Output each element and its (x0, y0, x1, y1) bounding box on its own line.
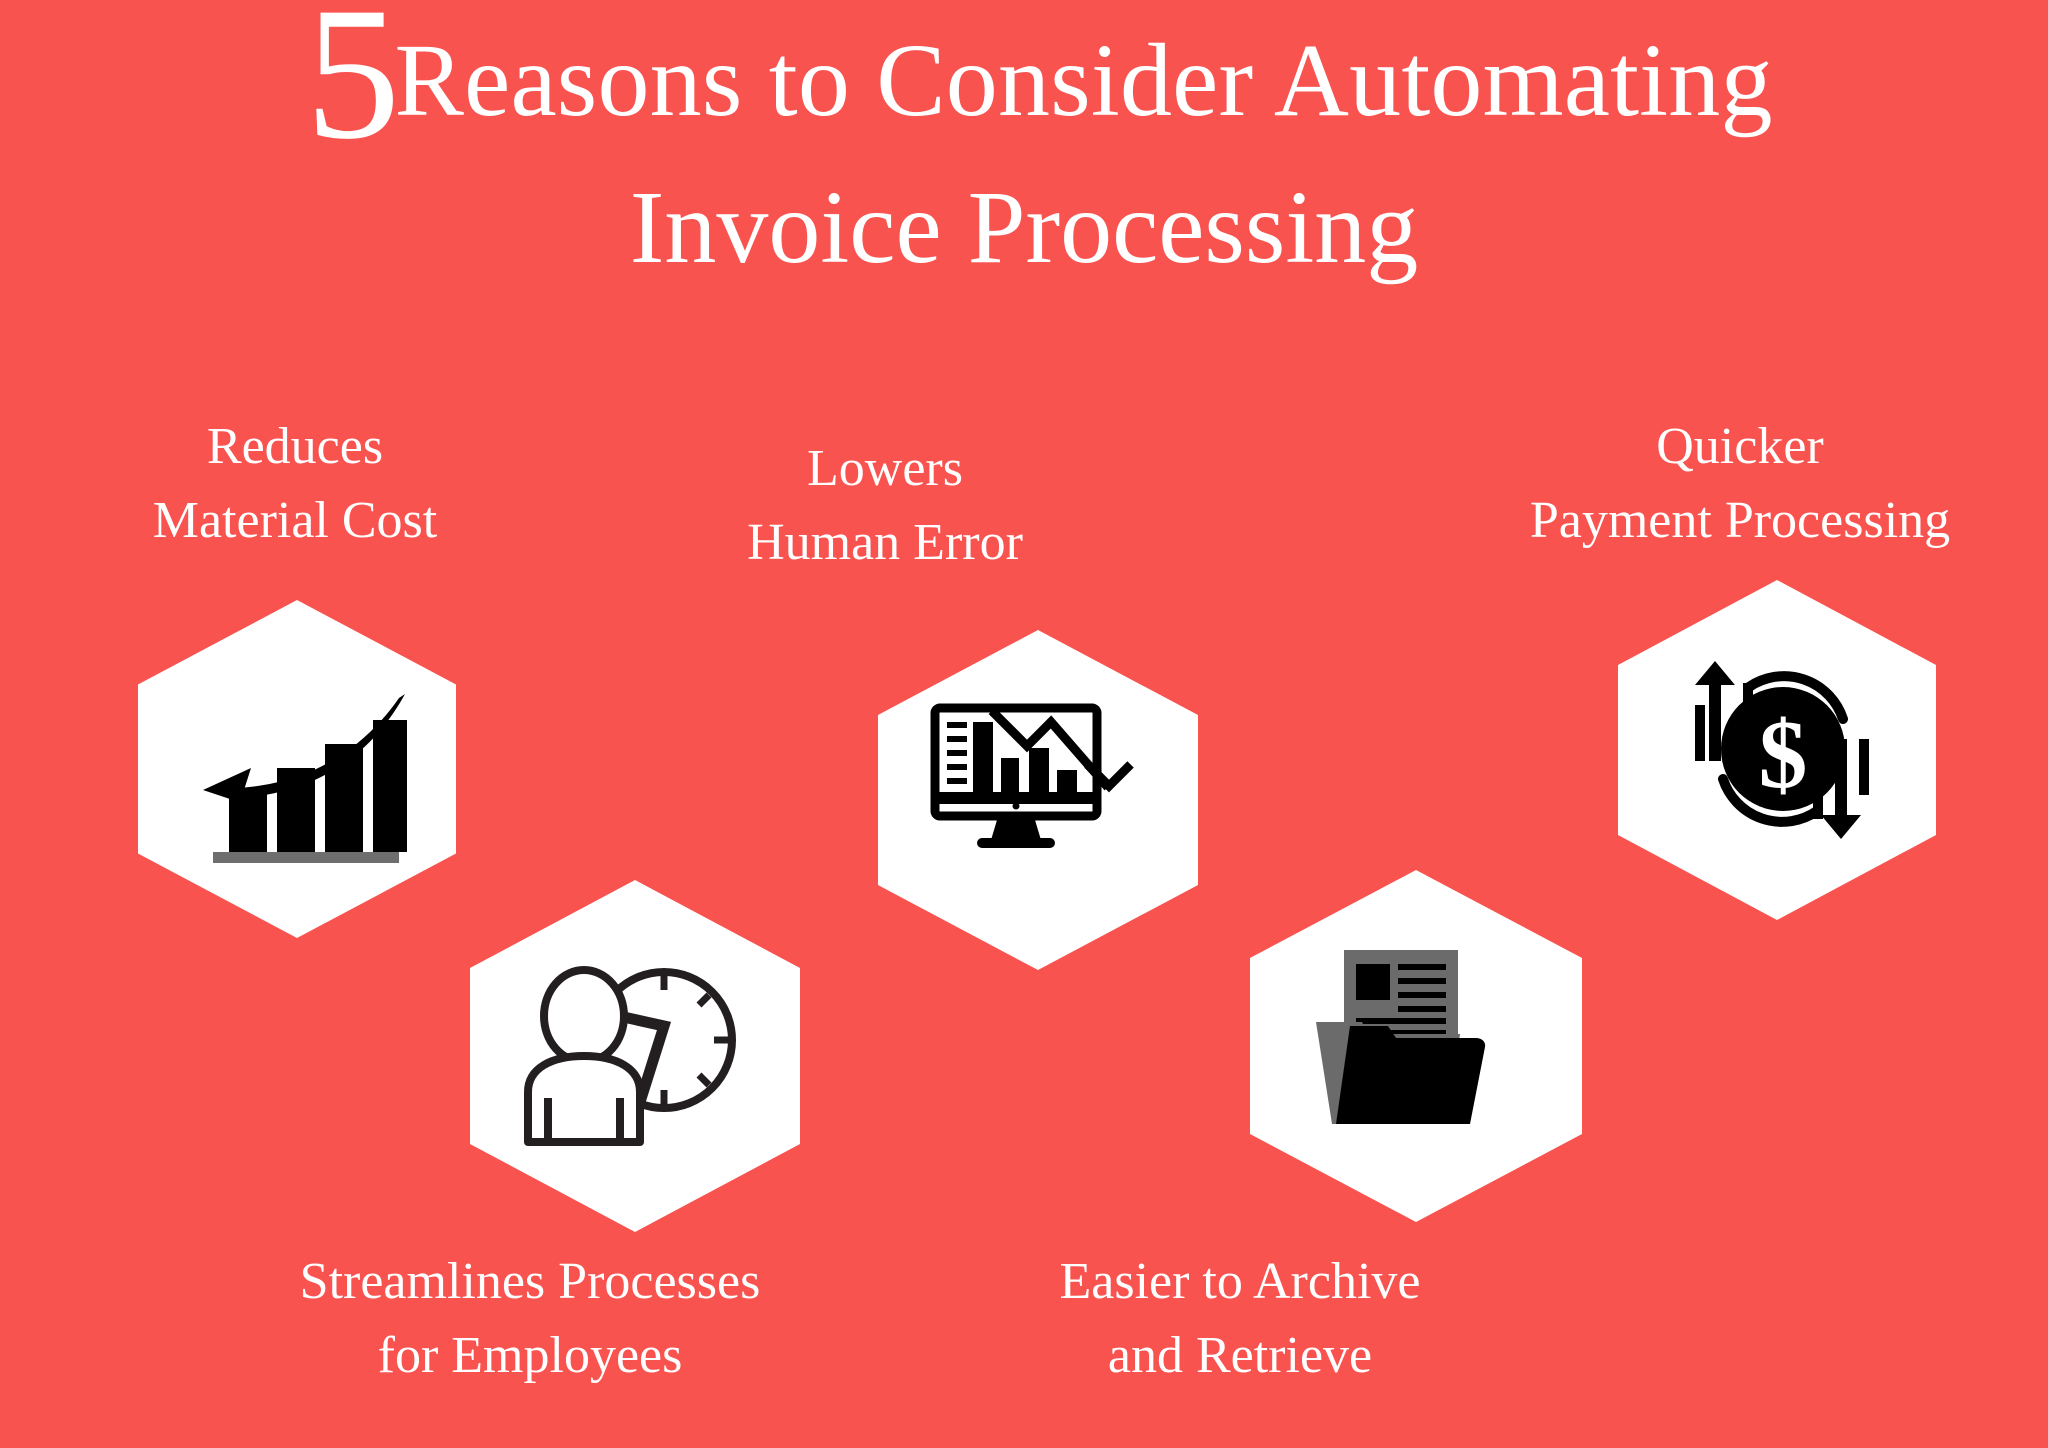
reason-hexagon-easier-to-archive (1250, 870, 1582, 1222)
reason-label-line-1: Easier to Archive (960, 1245, 1520, 1319)
page-title: 5Reasons to Consider Automating Invoice … (0, 18, 2048, 292)
reason-label-reduces-material-cost: Reduces Material Cost (60, 410, 530, 558)
reason-label-line-2: and Retrieve (960, 1319, 1520, 1393)
person-clock-icon (522, 956, 748, 1156)
svg-text:$: $ (1759, 701, 1808, 809)
reason-label-line-1: Lowers (650, 432, 1120, 506)
reason-hexagon-reduces-material-cost (138, 600, 456, 938)
title-line-2: Invoice Processing (0, 165, 2048, 292)
reason-label-line-1: Quicker (1430, 410, 2048, 484)
reason-label-line-1: Reduces (60, 410, 530, 484)
reason-hexagon-quicker-payment-processing: $ (1618, 580, 1936, 920)
dollar-transfer-icon: $ (1671, 643, 1883, 857)
reason-label-line-2: for Employees (190, 1319, 870, 1393)
monitor-declining-chart-icon (929, 700, 1147, 900)
reason-hexagon-lowers-human-error (878, 630, 1198, 970)
infographic-poster: 5Reasons to Consider Automating Invoice … (0, 0, 2048, 1448)
reason-hexagon-streamlines-processes (470, 880, 800, 1232)
title-number: 5 (305, 0, 400, 179)
title-line-1: 5Reasons to Consider Automating (0, 18, 2048, 145)
declining-bar-chart-icon (187, 664, 407, 874)
reason-label-lowers-human-error: Lowers Human Error (650, 432, 1120, 580)
reason-label-line-2: Human Error (650, 506, 1120, 580)
reason-label-easier-to-archive: Easier to Archive and Retrieve (960, 1245, 1520, 1393)
reason-label-quicker-payment-processing: Quicker Payment Processing (1430, 410, 2048, 558)
reason-label-streamlines-processes: Streamlines Processes for Employees (190, 1245, 870, 1393)
reason-label-line-2: Material Cost (60, 484, 530, 558)
document-folder-icon (1310, 946, 1522, 1146)
reason-label-line-2: Payment Processing (1430, 484, 2048, 558)
reason-label-line-1: Streamlines Processes (190, 1245, 870, 1319)
title-line-1-text: Reasons to Consider Automating (395, 23, 1773, 138)
